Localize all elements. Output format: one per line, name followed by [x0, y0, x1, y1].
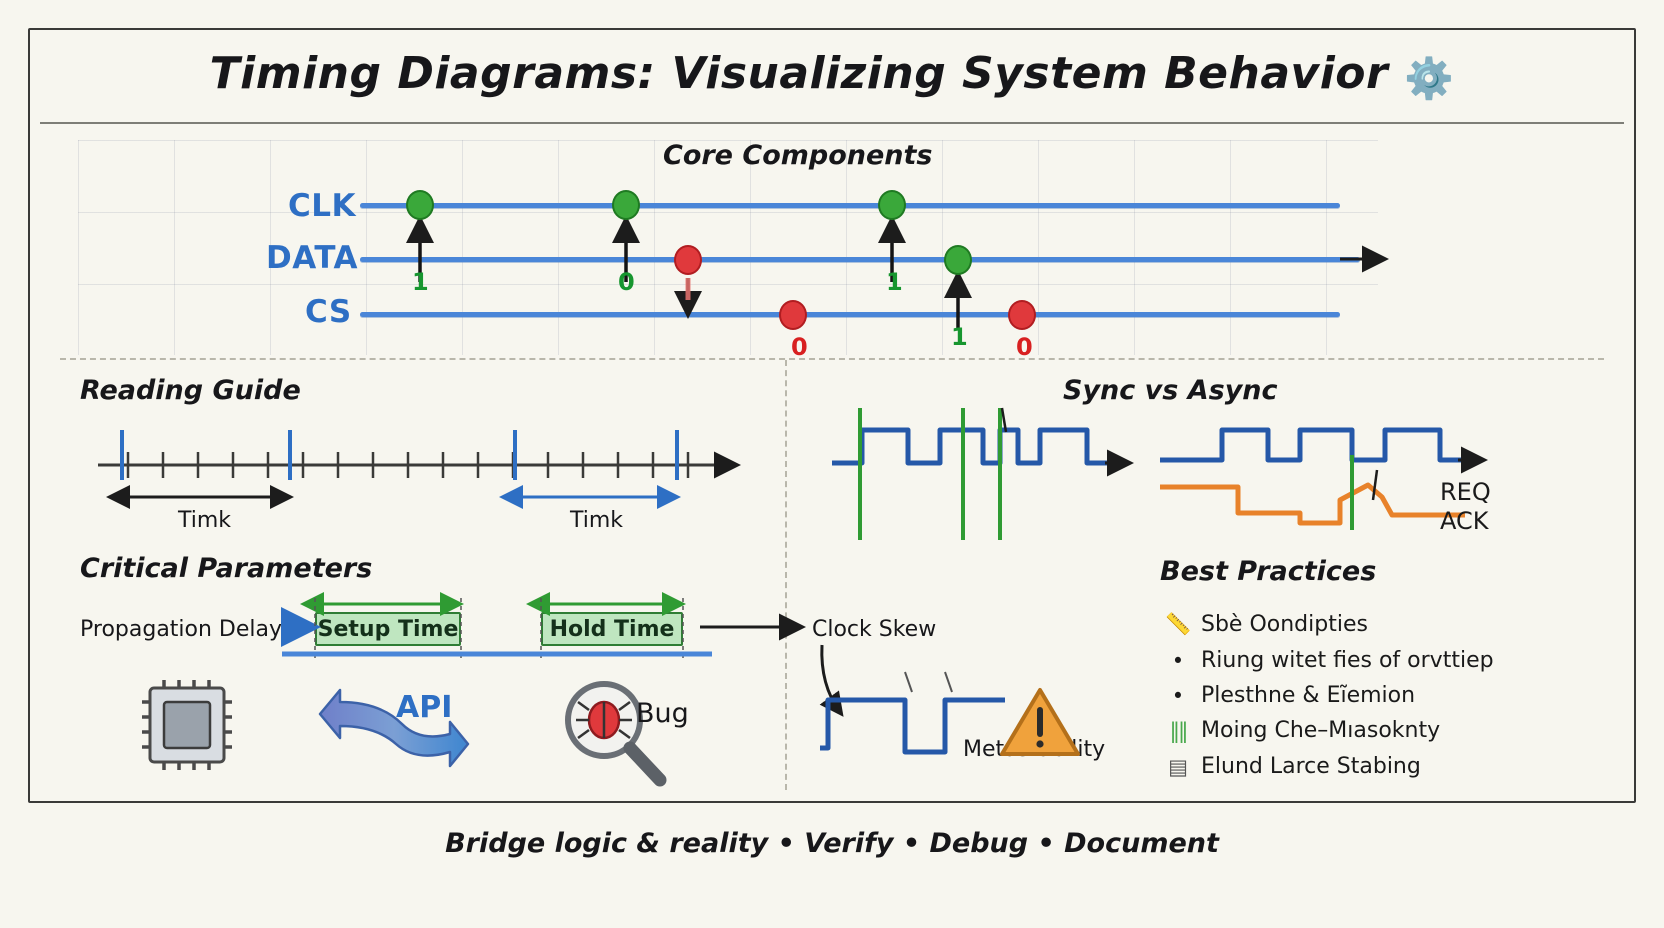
api-label: API [396, 690, 452, 725]
best-practice-text-5: Elund Larce Stabing [1201, 754, 1421, 779]
ruler-icon: 📏 [1165, 612, 1191, 637]
best-practices-heading: Best Practices [1160, 556, 1376, 587]
best-practice-item-2[interactable]: • Riung witet fies of orvttiep [1165, 648, 1494, 673]
barcode-icon: ‖‖ [1165, 719, 1191, 743]
best-practice-text-4: Moing Che–Mıasoknty [1201, 718, 1440, 743]
poster-canvas: Timing Diagrams: Visualizing System Beha… [0, 0, 1664, 928]
best-practice-item-3[interactable]: • Plesthne & Eı̃emion [1165, 683, 1415, 708]
cpu-chip-icon [142, 680, 232, 770]
best-practice-text-2: Riung witet fies of orvttiep [1201, 648, 1494, 673]
bug-label: Bug [636, 698, 689, 729]
best-practice-text-1: Sbè Oondipties [1201, 612, 1368, 637]
bullet-dot-icon: • [1165, 684, 1191, 708]
best-practice-text-3: Plesthne & Eı̃emion [1201, 683, 1415, 708]
icon-row-vectors [0, 0, 1664, 928]
abacus-icon: ▤ [1165, 755, 1191, 779]
best-practice-item-1[interactable]: 📏 Sbè Oondipties [1165, 612, 1368, 637]
bullet-dot-icon: • [1165, 649, 1191, 673]
best-practice-item-5[interactable]: ▤ Elund Larce Stabing [1165, 754, 1421, 779]
best-practice-item-4[interactable]: ‖‖ Moing Che–Mıasoknty [1165, 718, 1440, 743]
warning-triangle-icon [1002, 690, 1078, 754]
footer-tagline: Bridge logic & reality • Verify • Debug … [0, 828, 1664, 859]
